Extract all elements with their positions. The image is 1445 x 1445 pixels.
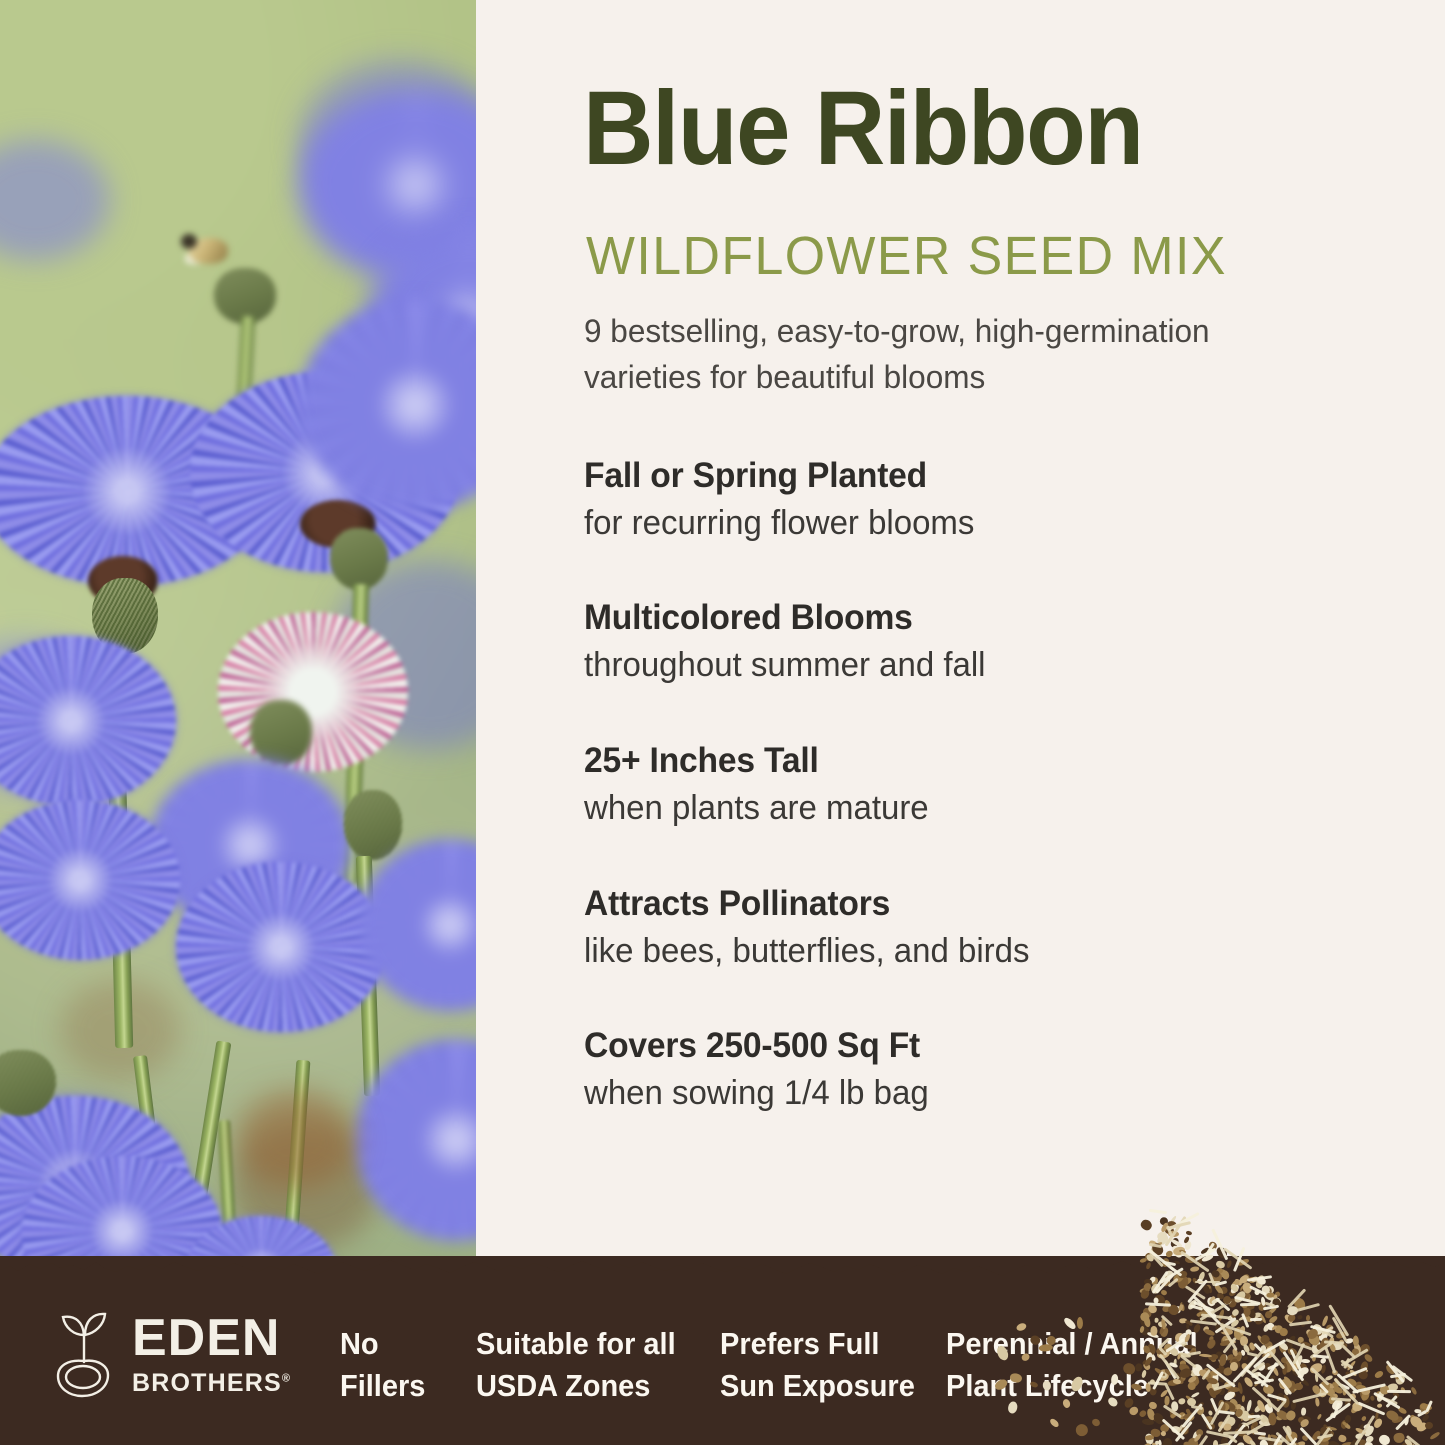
feature-heading: Fall or Spring Planted bbox=[584, 455, 1352, 496]
flower-bud bbox=[250, 700, 312, 766]
feature-detail: when plants are mature bbox=[584, 788, 1360, 829]
eden-brothers-logo[interactable]: EDEN BROTHERS® bbox=[48, 1308, 291, 1400]
footer-line: Suitable for all bbox=[476, 1324, 676, 1366]
page-title: Blue Ribbon bbox=[583, 76, 1143, 181]
blurred-butterfly bbox=[236, 1090, 356, 1190]
footer-column-sun-exposure: Prefers Full Sun Exposure bbox=[720, 1324, 915, 1408]
registered-mark: ® bbox=[282, 1373, 291, 1385]
footer-column-no-fillers: No Fillers bbox=[340, 1324, 425, 1408]
product-lede: 9 bestselling, easy-to-grow, high-germin… bbox=[584, 308, 1321, 400]
feature-heading: Attracts Pollinators bbox=[584, 883, 1352, 924]
product-feature-graphic: Blue Ribbon WILDFLOWER SEED MIX 9 bestse… bbox=[0, 0, 1445, 1445]
feature-heading: Multicolored Blooms bbox=[584, 597, 1352, 638]
sprouting-seed-icon bbox=[48, 1308, 120, 1400]
feature-item: Covers 250-500 Sq Ft when sowing 1/4 lb … bbox=[584, 1025, 1384, 1114]
feature-item: 25+ Inches Tall when plants are mature bbox=[584, 740, 1384, 829]
feature-item: Multicolored Blooms throughout summer an… bbox=[584, 597, 1384, 686]
footer-line: Plant Lifecycle bbox=[946, 1366, 1198, 1408]
feature-heading: 25+ Inches Tall bbox=[584, 740, 1352, 781]
footer-column-usda-zones: Suitable for all USDA Zones bbox=[476, 1324, 676, 1408]
feature-detail: like bees, butterflies, and birds bbox=[584, 931, 1360, 972]
cornflower-bloom bbox=[176, 862, 386, 1032]
brand-primary: EDEN bbox=[132, 1312, 291, 1364]
footer-line: Fillers bbox=[340, 1366, 425, 1408]
footer-line: Perennial / Annual bbox=[946, 1324, 1198, 1366]
cornflower-photo bbox=[0, 0, 476, 1300]
feature-detail: throughout summer and fall bbox=[584, 645, 1360, 686]
feature-item: Attracts Pollinators like bees, butterfl… bbox=[584, 883, 1384, 972]
brand-secondary: BROTHERS® bbox=[132, 1371, 291, 1396]
footer-column-plant-lifecycle: Perennial / Annual Plant Lifecycle bbox=[946, 1324, 1198, 1408]
content-panel: Blue Ribbon WILDFLOWER SEED MIX 9 bestse… bbox=[476, 0, 1445, 1300]
flower-bud bbox=[330, 528, 388, 590]
pink-white-bloom bbox=[218, 612, 408, 772]
footer-line: Sun Exposure bbox=[720, 1366, 915, 1408]
feature-heading: Covers 250-500 Sq Ft bbox=[584, 1025, 1352, 1066]
footer-line: USDA Zones bbox=[476, 1366, 676, 1408]
feature-detail: for recurring flower blooms bbox=[584, 503, 1360, 544]
product-subtitle: WILDFLOWER SEED MIX bbox=[586, 229, 1227, 283]
soil-edge bbox=[0, 1256, 1445, 1284]
feature-item: Fall or Spring Planted for recurring flo… bbox=[584, 455, 1384, 544]
feature-detail: when sowing 1/4 lb bag bbox=[584, 1073, 1360, 1114]
footer-line: Prefers Full bbox=[720, 1324, 915, 1366]
footer-line: No bbox=[340, 1324, 425, 1366]
flower-bud bbox=[344, 790, 402, 860]
footer-bar: EDEN BROTHERS® No Fillers Suitable for a… bbox=[0, 1280, 1445, 1445]
